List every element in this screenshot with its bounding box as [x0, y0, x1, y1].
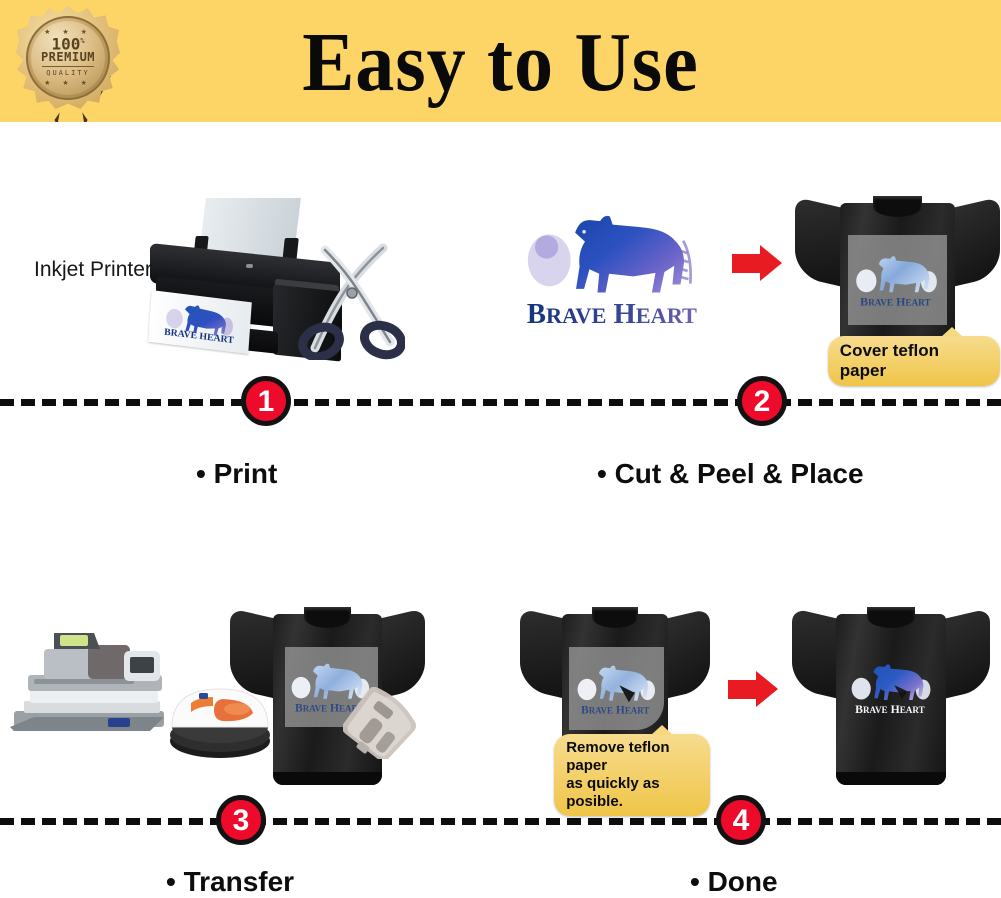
brave-heart-logo-large-icon: BRAVE HEART [518, 205, 718, 330]
step-caption-4: • Done [690, 866, 778, 898]
arrow-shaft [732, 254, 762, 273]
step-badge-3: 3 [216, 795, 266, 845]
step-3-illustration: BRAVE HEART [0, 575, 500, 800]
svg-text:BRAVE HEART: BRAVE HEART [581, 704, 649, 716]
tshirt-with-teflon: BRAVE HEART Cover teflon paper [795, 192, 1000, 372]
step-divider-1 [0, 399, 1001, 406]
step-4-callout-line-1: Remove teflon paper [566, 739, 698, 775]
header-banner: ★ ★ ★ 100% PREMIUM QUALITY ★ ★ ★ Easy to… [0, 0, 1001, 126]
step-4-callout-line-2: as quickly as posible. [566, 775, 698, 811]
step-1-illustration: BRAVE HEART Inkjet Printer [0, 150, 500, 395]
step-4-callout: Remove teflon paper as quickly as posibl… [554, 734, 710, 816]
tshirt-being-pressed: BRAVE HEART [230, 603, 425, 785]
header-divider [0, 122, 1001, 126]
brave-heart-logo-transferred-icon: BRAVE HEART [849, 650, 936, 726]
clothes-iron-icon [343, 687, 421, 759]
arrow-shaft [728, 680, 758, 699]
step-caption-1: • Print [196, 458, 277, 490]
red-arrow-icon [728, 671, 780, 708]
printed-transfer-sheet: BRAVE HEART [148, 290, 252, 354]
tshirt-sleeve-right [661, 608, 710, 699]
svg-text:BRAVE HEART: BRAVE HEART [527, 299, 697, 330]
callout-tail [651, 725, 673, 735]
tshirt-finished: BRAVE HEART [792, 603, 990, 785]
step-caption-3: • Transfer [166, 866, 294, 898]
step-badge-1: 1 [241, 376, 291, 426]
svg-text:BRAVE HEART: BRAVE HEART [856, 703, 926, 716]
red-arrow-icon [732, 245, 784, 282]
tshirt-sleeve-right [939, 608, 990, 700]
step-badge-2: 2 [737, 376, 787, 426]
step-divider-2 [0, 818, 1001, 825]
step-caption-2: • Cut & Peel & Place [597, 458, 864, 490]
step-2-illustration: BRAVE HEART BRAVE HEART [500, 150, 1001, 395]
step-2-callout-text: Cover teflon paper [840, 341, 939, 380]
tshirt-hem [836, 772, 947, 785]
brave-heart-logo-on-shirt-icon: BRAVE HEART [575, 649, 661, 729]
inkjet-printer-label: Inkjet Printer [34, 258, 152, 282]
arrow-head [756, 671, 778, 707]
brave-heart-logo-icon: BRAVE HEART [161, 296, 240, 347]
svg-text:BRAVE HEART: BRAVE HEART [861, 294, 932, 308]
tshirt-hem [273, 772, 382, 785]
heat-press-machine-icon [8, 623, 183, 743]
step-4-illustration: BRAVE HEART Remove teflon paper as quick… [500, 575, 1001, 800]
page-title: Easy to Use [35, 13, 966, 113]
step-2-callout: Cover teflon paper [828, 336, 1000, 386]
printer-power-button [246, 264, 253, 268]
brave-heart-logo-on-shirt-icon: BRAVE HEART [854, 239, 942, 322]
tshirt-peeling-teflon: BRAVE HEART Remove teflon paper as quick… [520, 603, 710, 785]
arrow-head [760, 245, 782, 281]
scissors-icon [295, 230, 405, 360]
step-badge-4: 4 [716, 795, 766, 845]
callout-tail [941, 327, 963, 337]
